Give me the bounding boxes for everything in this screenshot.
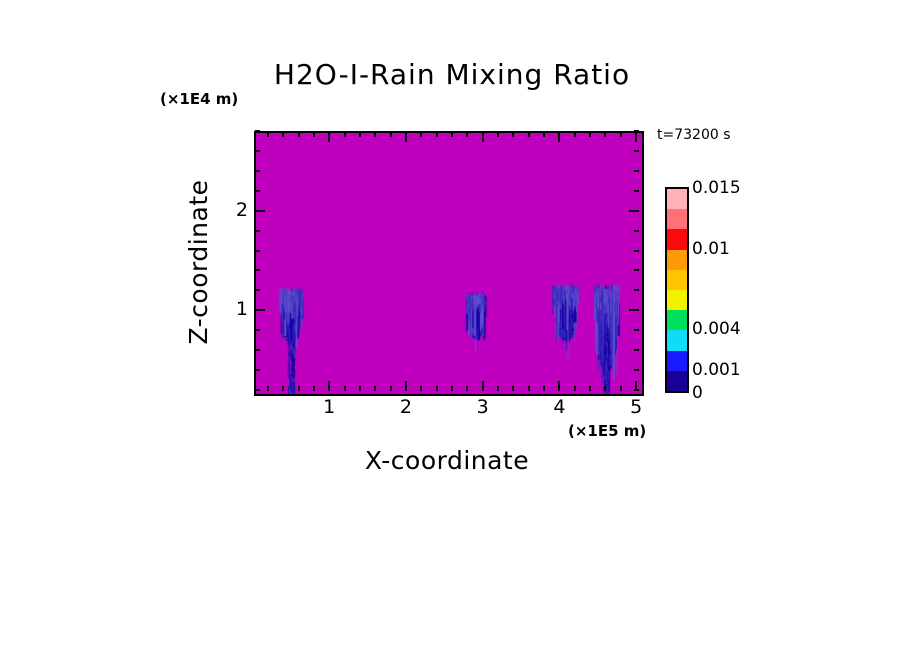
axis-tick	[255, 130, 260, 132]
x-axis-title: X-coordinate	[254, 446, 640, 475]
axis-tick	[420, 132, 422, 137]
axis-tick	[313, 386, 315, 391]
colorbar-tick-label: 0	[692, 383, 703, 403]
axis-tick	[634, 250, 639, 252]
axis-tick	[629, 210, 639, 212]
colorbar-band[interactable]	[667, 371, 687, 391]
x-axis-unit-label: (×1E5 m)	[568, 422, 646, 440]
colorbar-band[interactable]	[667, 209, 687, 229]
colorbar-band[interactable]	[667, 229, 687, 249]
axis-tick	[344, 132, 346, 137]
axis-tick	[634, 329, 639, 331]
axis-tick	[255, 309, 265, 311]
axis-tick	[255, 230, 260, 232]
colorbar-tick-label: 0.015	[692, 178, 741, 198]
axis-tick	[634, 269, 639, 271]
axis-tick	[512, 132, 514, 137]
axis-tick	[620, 386, 622, 391]
axis-tick	[436, 386, 438, 391]
axis-tick	[589, 132, 591, 137]
axis-tick	[634, 349, 639, 351]
axis-tick	[543, 386, 545, 391]
axis-tick	[255, 250, 260, 252]
axis-tick	[451, 132, 453, 137]
figure-root: H2O-I-Rain Mixing Ratio (×1E4 m) t=73200…	[0, 0, 904, 654]
axis-tick	[620, 132, 622, 137]
axis-tick	[359, 386, 361, 391]
axis-tick	[390, 132, 392, 137]
axis-tick	[374, 132, 376, 137]
heatmap-canvas	[256, 133, 642, 394]
axis-tick	[558, 132, 560, 142]
x-axis-tick-label: 5	[621, 396, 651, 418]
colorbar-tick-label: 0.001	[692, 360, 741, 380]
y-axis-tick-label: 2	[224, 199, 248, 221]
axis-tick	[255, 170, 260, 172]
colorbar-band[interactable]	[667, 351, 687, 371]
axis-tick	[451, 386, 453, 391]
axis-tick	[574, 132, 576, 137]
axis-tick	[255, 329, 260, 331]
colorbar-band[interactable]	[667, 250, 687, 270]
axis-tick	[634, 190, 639, 192]
axis-tick	[634, 289, 639, 291]
axis-tick	[282, 386, 284, 391]
axis-tick	[574, 386, 576, 391]
axis-tick	[267, 132, 269, 137]
axis-tick	[604, 132, 606, 137]
axis-tick	[282, 132, 284, 137]
axis-tick	[374, 386, 376, 391]
axis-tick	[328, 381, 330, 391]
axis-tick	[604, 386, 606, 391]
axis-tick	[344, 386, 346, 391]
axis-tick	[466, 386, 468, 391]
axis-tick	[466, 132, 468, 137]
axis-tick	[589, 386, 591, 391]
axis-tick	[359, 132, 361, 137]
colorbar-band[interactable]	[667, 270, 687, 290]
axis-tick	[634, 230, 639, 232]
y-axis-tick-label: 1	[224, 298, 248, 320]
axis-tick	[313, 132, 315, 137]
axis-tick	[298, 386, 300, 391]
colorbar-tick-label: 0.01	[692, 239, 730, 259]
axis-tick	[634, 389, 639, 391]
axis-tick	[420, 386, 422, 391]
y-axis-title: Z-coordinate	[184, 62, 213, 462]
x-axis-tick-label: 2	[391, 396, 421, 418]
axis-tick	[482, 381, 484, 391]
axis-tick	[255, 349, 260, 351]
axis-tick	[255, 150, 260, 152]
axis-tick	[497, 386, 499, 391]
axis-tick	[405, 132, 407, 142]
axis-tick	[634, 369, 639, 371]
axis-tick	[255, 190, 260, 192]
axis-tick	[405, 381, 407, 391]
axis-tick	[528, 386, 530, 391]
plot-area[interactable]	[254, 131, 644, 396]
colorbar-band[interactable]	[667, 330, 687, 350]
axis-tick	[482, 132, 484, 142]
axis-tick	[255, 389, 260, 391]
axis-tick	[255, 210, 265, 212]
axis-tick	[543, 132, 545, 137]
page-title: H2O-I-Rain Mixing Ratio	[0, 58, 904, 91]
axis-tick	[328, 132, 330, 142]
axis-tick	[436, 132, 438, 137]
time-annotation: t=73200 s	[657, 127, 731, 143]
axis-tick	[255, 289, 260, 291]
x-axis-tick-label: 1	[314, 396, 344, 418]
x-axis-tick-label: 3	[468, 396, 498, 418]
axis-tick	[558, 381, 560, 391]
colorbar-band[interactable]	[667, 290, 687, 310]
colorbar-band[interactable]	[667, 189, 687, 209]
colorbar-band[interactable]	[667, 310, 687, 330]
colorbar-tick-label: 0.004	[692, 319, 741, 339]
axis-tick	[634, 170, 639, 172]
axis-tick	[634, 150, 639, 152]
axis-tick	[255, 369, 260, 371]
x-axis-tick-label: 4	[544, 396, 574, 418]
axis-tick	[390, 386, 392, 391]
axis-tick	[634, 130, 639, 132]
colorbar[interactable]	[665, 187, 689, 393]
axis-tick	[528, 132, 530, 137]
axis-tick	[298, 132, 300, 137]
axis-tick	[512, 386, 514, 391]
axis-tick	[629, 309, 639, 311]
axis-tick	[497, 132, 499, 137]
axis-tick	[635, 132, 637, 142]
axis-tick	[267, 386, 269, 391]
axis-tick	[255, 269, 260, 271]
